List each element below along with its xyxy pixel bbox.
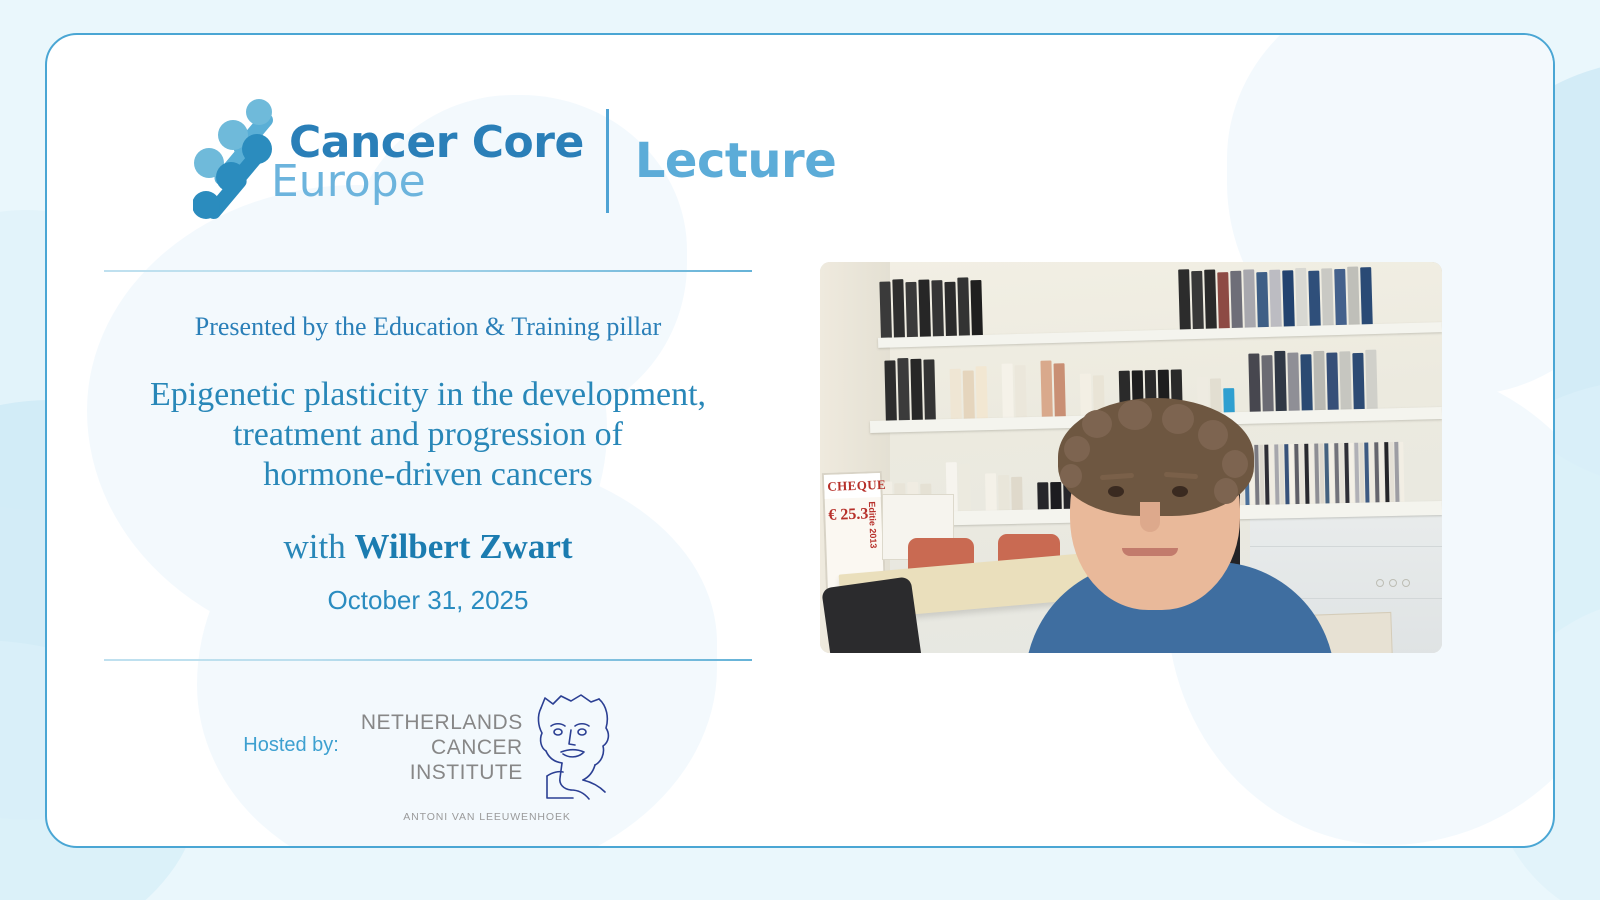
poster-price: € 25.3 [828,505,869,524]
speaker-hair [1058,398,1254,516]
office-chair-dark [821,576,925,653]
lecture-title-line-1: Epigenetic plasticity in the development… [104,375,752,415]
logo-wordmark: Cancer Core Europe [289,119,584,203]
poster-edition: Editie 2013 [867,501,879,548]
divider-bottom [104,659,752,661]
hosted-by-row: Hosted by: NETHERLANDS CANCER INSTITUTE [104,690,752,800]
wall-outlet-icon [1376,574,1428,596]
speaker-eye-left [1108,486,1124,497]
nki-tagline: ANTONI VAN LEEUWENHOEK [403,811,571,823]
brand-logo: Cancer Core Europe Lecture [193,97,836,225]
nki-line-netherlands: NETHERLANDS [361,710,523,735]
speaker-name: Wilbert Zwart [354,527,572,566]
poster-header: CHEQUE [824,473,881,499]
speaker-nose [1140,502,1160,532]
lecture-title-line-2: treatment and progression of [104,415,752,455]
with-prefix: with [283,527,354,566]
nki-line-cancer: CANCER [361,735,523,760]
speaker-mouth [1122,548,1178,556]
divider-top [104,270,752,272]
nki-wordmark: NETHERLANDS CANCER INSTITUTE [361,690,523,785]
nki-tagline-wrap: ANTONI VAN LEEUWENHOEK [104,807,752,825]
lecture-date: October 31, 2025 [104,585,752,616]
logo-product-label: Lecture [635,133,836,189]
speaker-line: with Wilbert Zwart [104,527,752,567]
logo-vertical-divider [606,109,609,213]
lecture-announcement-card: Cancer Core Europe Lecture Presented by … [45,33,1555,848]
hosted-by-label: Hosted by: [243,734,339,757]
nki-line-institute: INSTITUTE [361,760,523,785]
slide-canvas: Cancer Core Europe Lecture Presented by … [0,0,1600,900]
speaker-video-thumbnail[interactable]: CHEQUE € 25.3 Editie 2013 [820,262,1442,653]
lecture-title-line-3: hormone-driven cancers [104,455,752,495]
speaker-eye-right [1172,486,1188,497]
lecture-title: Epigenetic plasticity in the development… [104,375,752,495]
poster-title: CHEQUE [824,473,881,499]
netherlands-cancer-institute-logo: NETHERLANDS CANCER INSTITUTE [361,690,613,800]
antoni-van-leeuwenhoek-portrait-icon [527,690,613,800]
presented-by-text: Presented by the Education & Training pi… [104,312,752,342]
